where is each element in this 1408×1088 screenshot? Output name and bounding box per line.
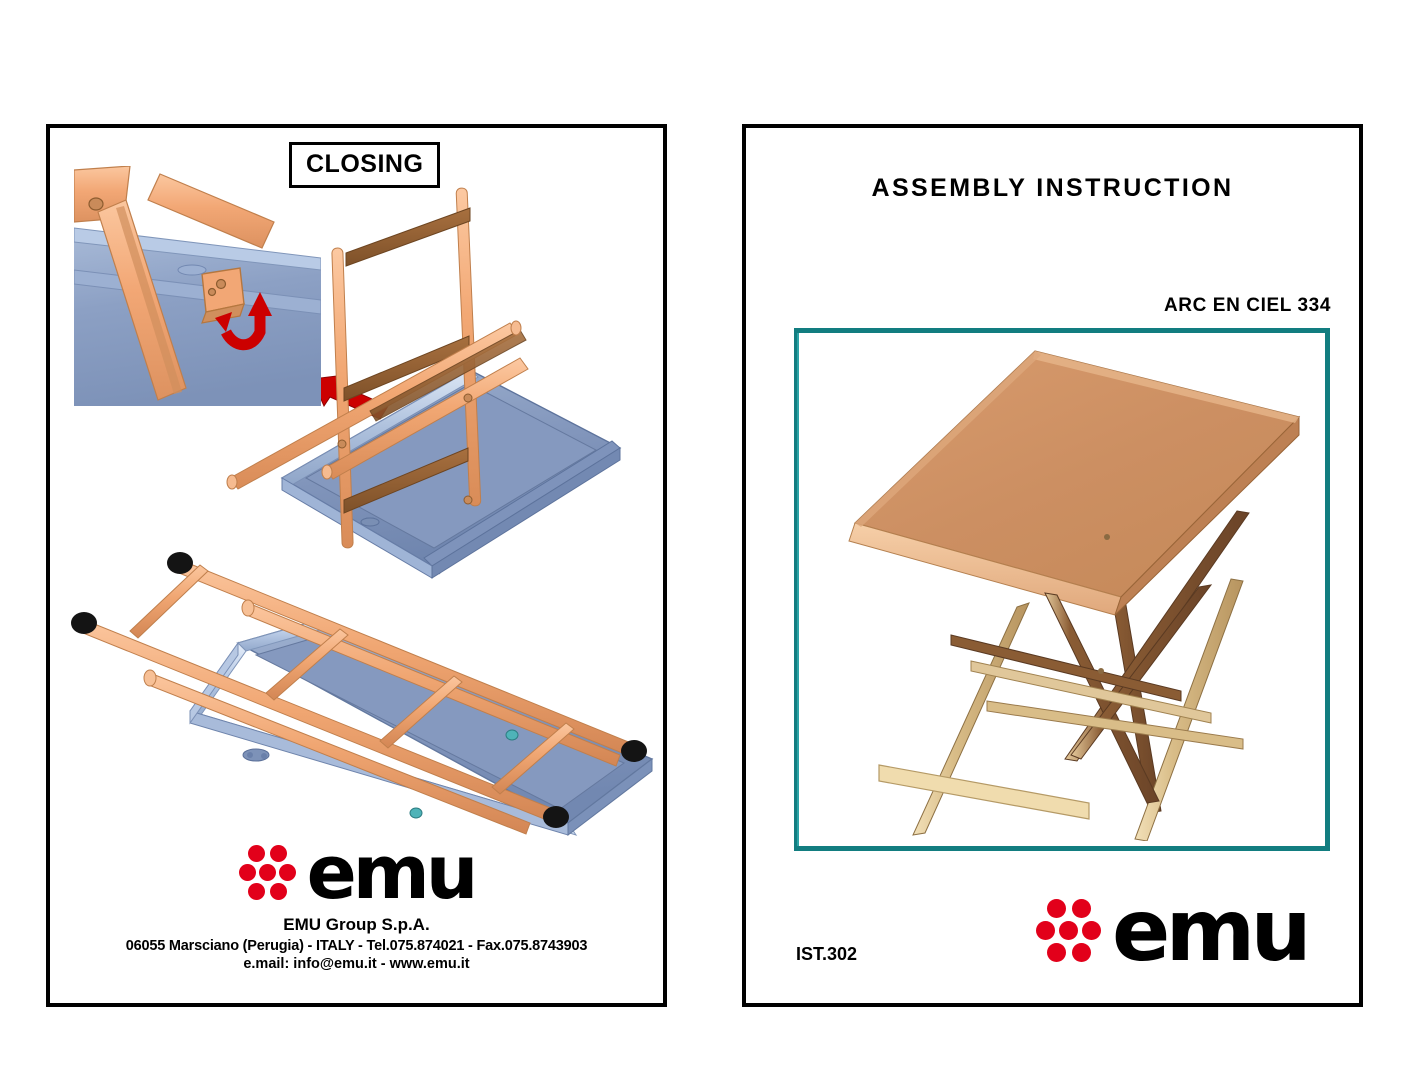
emu-logo-right: emu [1036, 896, 1307, 969]
assembled-table-svg [839, 341, 1309, 841]
inset-latch-detail [74, 166, 321, 406]
pivot-joint [1098, 668, 1104, 674]
emu-logo: emu [239, 843, 475, 904]
document-code: IST.302 [796, 944, 857, 965]
diagram-assembled-table [839, 341, 1309, 841]
emu-flower-icon [239, 844, 297, 902]
pivot-joint [338, 440, 346, 448]
step-label-closing: CLOSING [289, 142, 440, 188]
foot-cap [167, 552, 193, 574]
foot-cap [71, 612, 97, 634]
left-panel-footer: emu EMU Group S.p.A. 06055 Marsciano (Pe… [50, 843, 663, 972]
foot-cap [543, 806, 569, 828]
emu-flower-icon [1036, 898, 1102, 964]
diagram-table-folded [60, 523, 670, 843]
foot-cap [621, 740, 647, 762]
pivot-joint [464, 394, 472, 402]
left-page-panel: CLOSING emu EMU Group S.p.A. 06055 Marsc… [46, 124, 667, 1007]
pivot-hole [89, 198, 103, 210]
pivot-joint [464, 496, 472, 504]
emu-wordmark: emu [307, 843, 475, 904]
table-folded-svg [60, 523, 670, 843]
emu-wordmark: emu [1112, 896, 1307, 967]
product-model-label: ARC EN CIEL 334 [1164, 295, 1331, 317]
company-address: 06055 Marsciano (Perugia) - ITALY - Tel.… [50, 938, 663, 954]
company-name: EMU Group S.p.A. [50, 915, 663, 935]
bottom-stretcher [879, 765, 1089, 819]
inset-detail-svg [74, 166, 321, 406]
product-image-frame [794, 328, 1330, 851]
right-page-panel: ASSEMBLY INSTRUCTION ARC EN CIEL 334 [742, 124, 1363, 1007]
page-title: ASSEMBLY INSTRUCTION [746, 174, 1359, 203]
latch-bracket [202, 268, 244, 323]
company-contact: e.mail: info@emu.it - www.emu.it [50, 956, 663, 972]
table-top [849, 351, 1299, 615]
pivot-joint [1104, 534, 1110, 540]
